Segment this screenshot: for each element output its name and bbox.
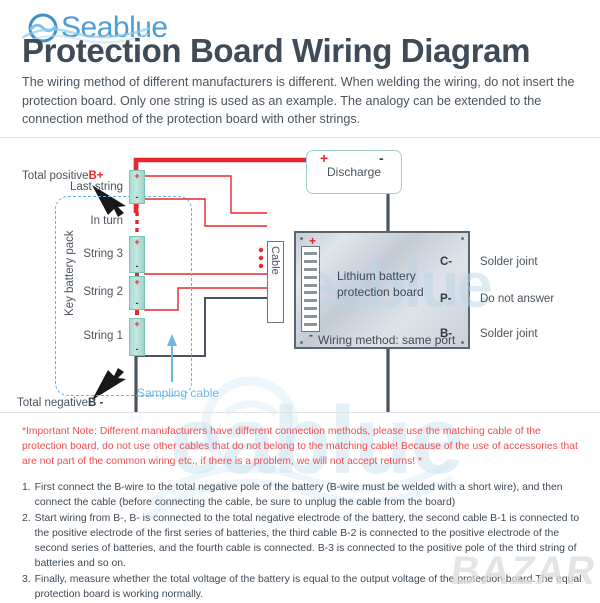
important-note: *Important Note: Different manufacturers…: [22, 424, 582, 469]
connector-pin: [304, 284, 317, 287]
connector-pin: [304, 307, 317, 310]
discharge-minus-terminal: -: [379, 150, 384, 166]
instruction-steps: 1. First connect the B-wire to the total…: [22, 480, 588, 603]
discharge-plus-terminal: +: [320, 150, 328, 166]
board-pin-p-minus: P-: [440, 293, 452, 305]
board-plus-marker: +: [309, 234, 316, 248]
board-minus-marker: -: [309, 328, 313, 342]
connector-pin: [304, 323, 317, 326]
sampling-cable-label: Sampling cable: [137, 386, 219, 400]
connector-pin: [304, 260, 317, 263]
board-corner-dot: [461, 237, 464, 240]
connector-pin: [304, 299, 317, 302]
connector-pin: [304, 252, 317, 255]
intro-paragraph: The wiring method of different manufactu…: [22, 73, 578, 129]
wiring-diagram: eablue: [0, 138, 600, 413]
board-pin-c-minus-note: Solder joint: [480, 256, 538, 268]
board-pin-c-minus: C-: [440, 256, 452, 268]
connector-pin: [304, 315, 317, 318]
instruction-step: 3. Finally, measure whether the total vo…: [22, 572, 588, 602]
instruction-step: 1. First connect the B-wire to the total…: [22, 480, 588, 510]
board-title: Lithium battery protection board: [337, 268, 424, 300]
board-pin-b-minus: B-: [440, 328, 452, 340]
board-title-line1: Lithium battery: [337, 269, 416, 283]
connector-pin: [304, 291, 317, 294]
board-connector-socket: [301, 246, 320, 332]
step-number: 3.: [22, 572, 31, 602]
divider-bottom: [0, 412, 600, 413]
wiring-method-note: Wiring method: same port: [318, 333, 455, 347]
connector-pin: [304, 268, 317, 271]
step-text: First connect the B-wire to the total ne…: [35, 480, 588, 510]
board-pin-p-minus-note: Do not answer: [480, 293, 554, 305]
board-corner-dot: [300, 341, 303, 344]
board-title-line2: protection board: [337, 285, 424, 299]
instruction-step: 2. Start wiring from B-, B- is connected…: [22, 511, 588, 571]
page-title: Protection Board Wiring Diagram: [22, 32, 530, 70]
board-corner-dot: [461, 341, 464, 344]
step-number: 1.: [22, 480, 31, 510]
connector-pin: [304, 276, 317, 279]
page-root: Seablue Protection Board Wiring Diagram …: [0, 0, 600, 600]
board-pin-b-minus-note: Solder joint: [480, 328, 538, 340]
step-text: Finally, measure whether the total volta…: [35, 572, 588, 602]
step-text: Start wiring from B-, B- is connected to…: [35, 511, 588, 571]
board-corner-dot: [300, 237, 303, 240]
step-number: 2.: [22, 511, 31, 571]
